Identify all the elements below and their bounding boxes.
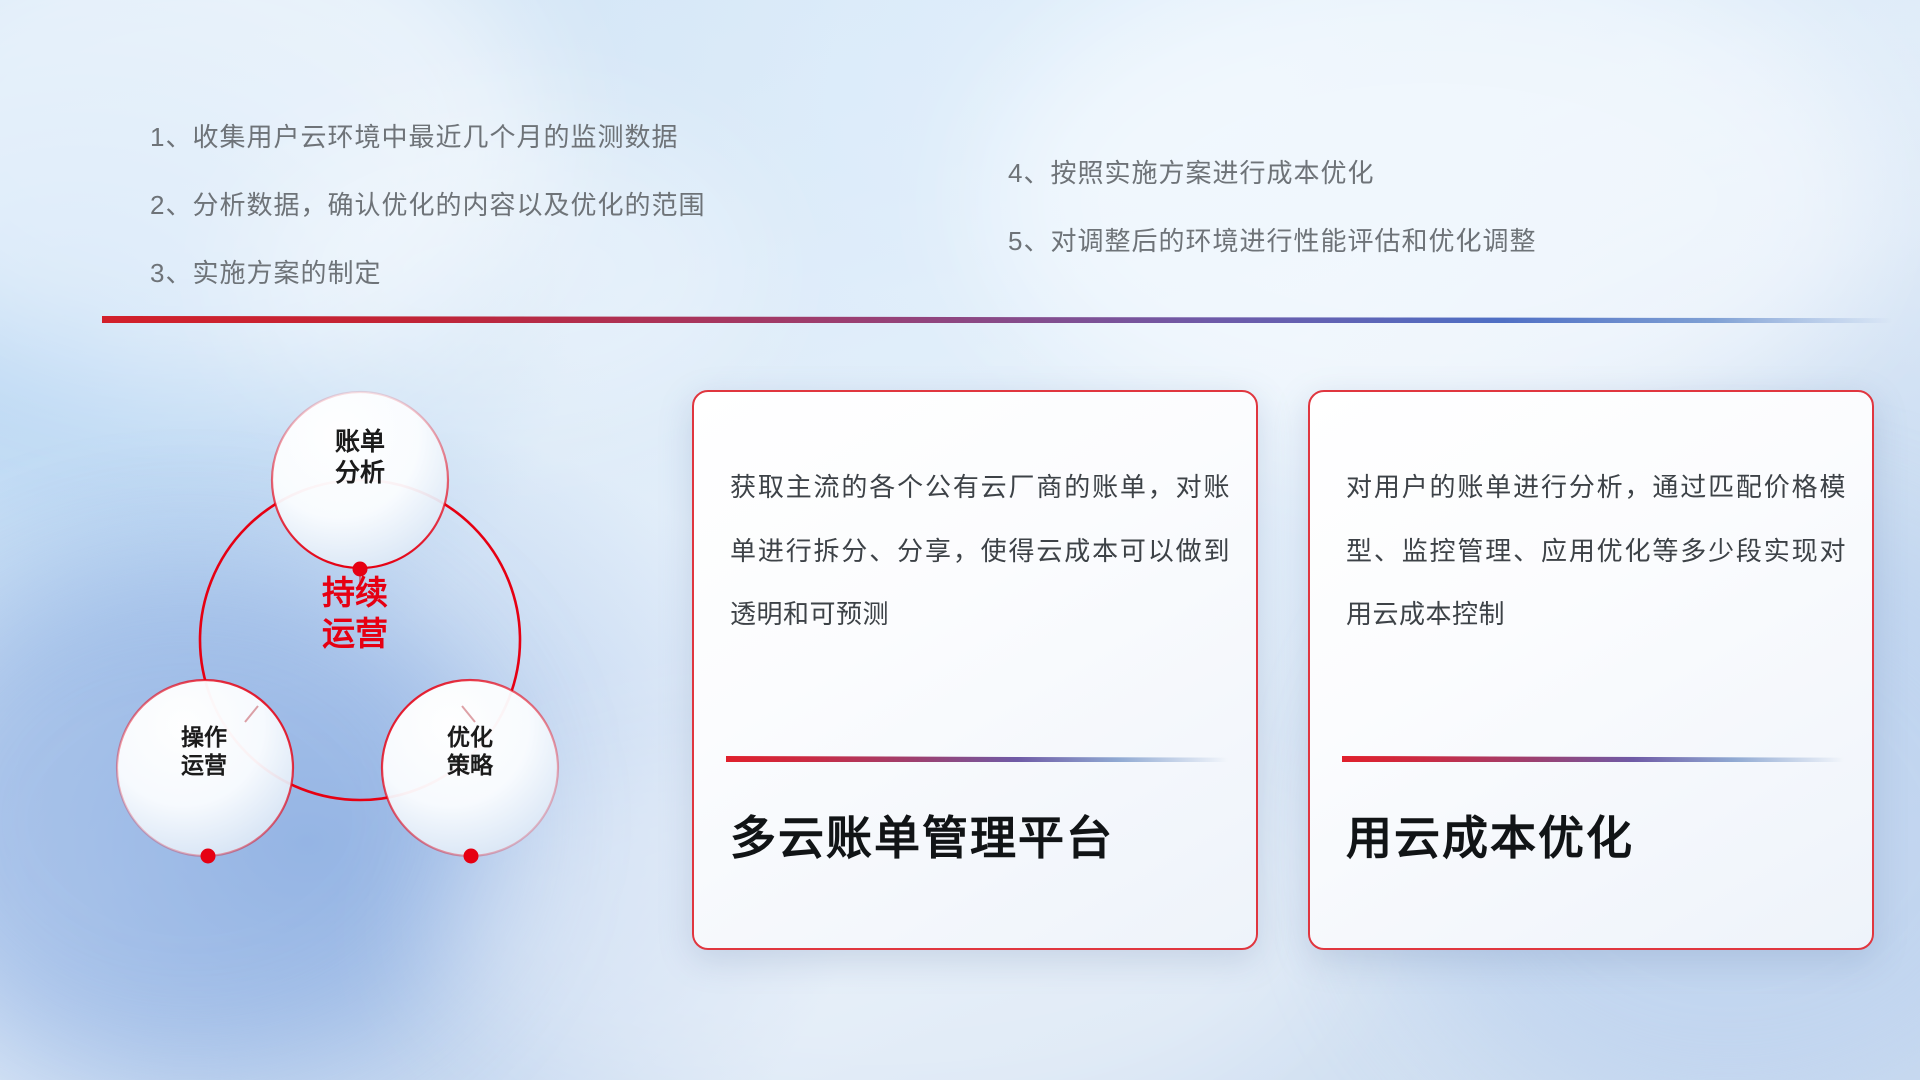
venn-diagram: 账单 分析 操作 运营 优化 策略 持续 运营 <box>95 350 640 950</box>
venn-diagram-svg <box>95 350 640 950</box>
steps-list-right: 4、按照实施方案进行成本优化 5、对调整后的环境进行性能评估和优化调整 <box>1008 160 1536 296</box>
venn-dot-bottom-right <box>464 849 479 864</box>
venn-node-bottom-left-circle[interactable] <box>117 680 293 856</box>
venn-node-bottom-right-circle[interactable] <box>382 680 558 856</box>
feature-card-body: 获取主流的各个公有云厂商的账单，对账单进行拆分、分享，使得云成本可以做到透明和可… <box>730 456 1230 647</box>
section-divider <box>102 316 1892 323</box>
list-item: 2、分析数据，确认优化的内容以及优化的范围 <box>150 192 705 218</box>
feature-card[interactable]: 获取主流的各个公有云厂商的账单，对账单进行拆分、分享，使得云成本可以做到透明和可… <box>692 390 1258 950</box>
feature-card[interactable]: 对用户的账单进行分析，通过匹配价格模型、监控管理、应用优化等多少段实现对用云成本… <box>1308 390 1874 950</box>
list-item: 4、按照实施方案进行成本优化 <box>1008 160 1536 186</box>
list-item: 5、对调整后的环境进行性能评估和优化调整 <box>1008 228 1536 254</box>
feature-card-title: 用云成本优化 <box>1346 802 1846 868</box>
feature-card-divider <box>726 756 1228 762</box>
feature-card-body: 对用户的账单进行分析，通过匹配价格模型、监控管理、应用优化等多少段实现对用云成本… <box>1346 456 1846 647</box>
list-item: 3、实施方案的制定 <box>150 260 705 286</box>
list-item: 1、收集用户云环境中最近几个月的监测数据 <box>150 124 705 150</box>
venn-dot-bottom-left <box>201 849 216 864</box>
feature-card-title: 多云账单管理平台 <box>730 802 1230 868</box>
slide-canvas: 1、收集用户云环境中最近几个月的监测数据 2、分析数据，确认优化的内容以及优化的… <box>0 0 1920 1080</box>
venn-node-top-circle[interactable] <box>272 392 448 568</box>
steps-list-left: 1、收集用户云环境中最近几个月的监测数据 2、分析数据，确认优化的内容以及优化的… <box>150 124 705 328</box>
feature-card-divider <box>1342 756 1844 762</box>
venn-dot-top <box>353 562 368 577</box>
